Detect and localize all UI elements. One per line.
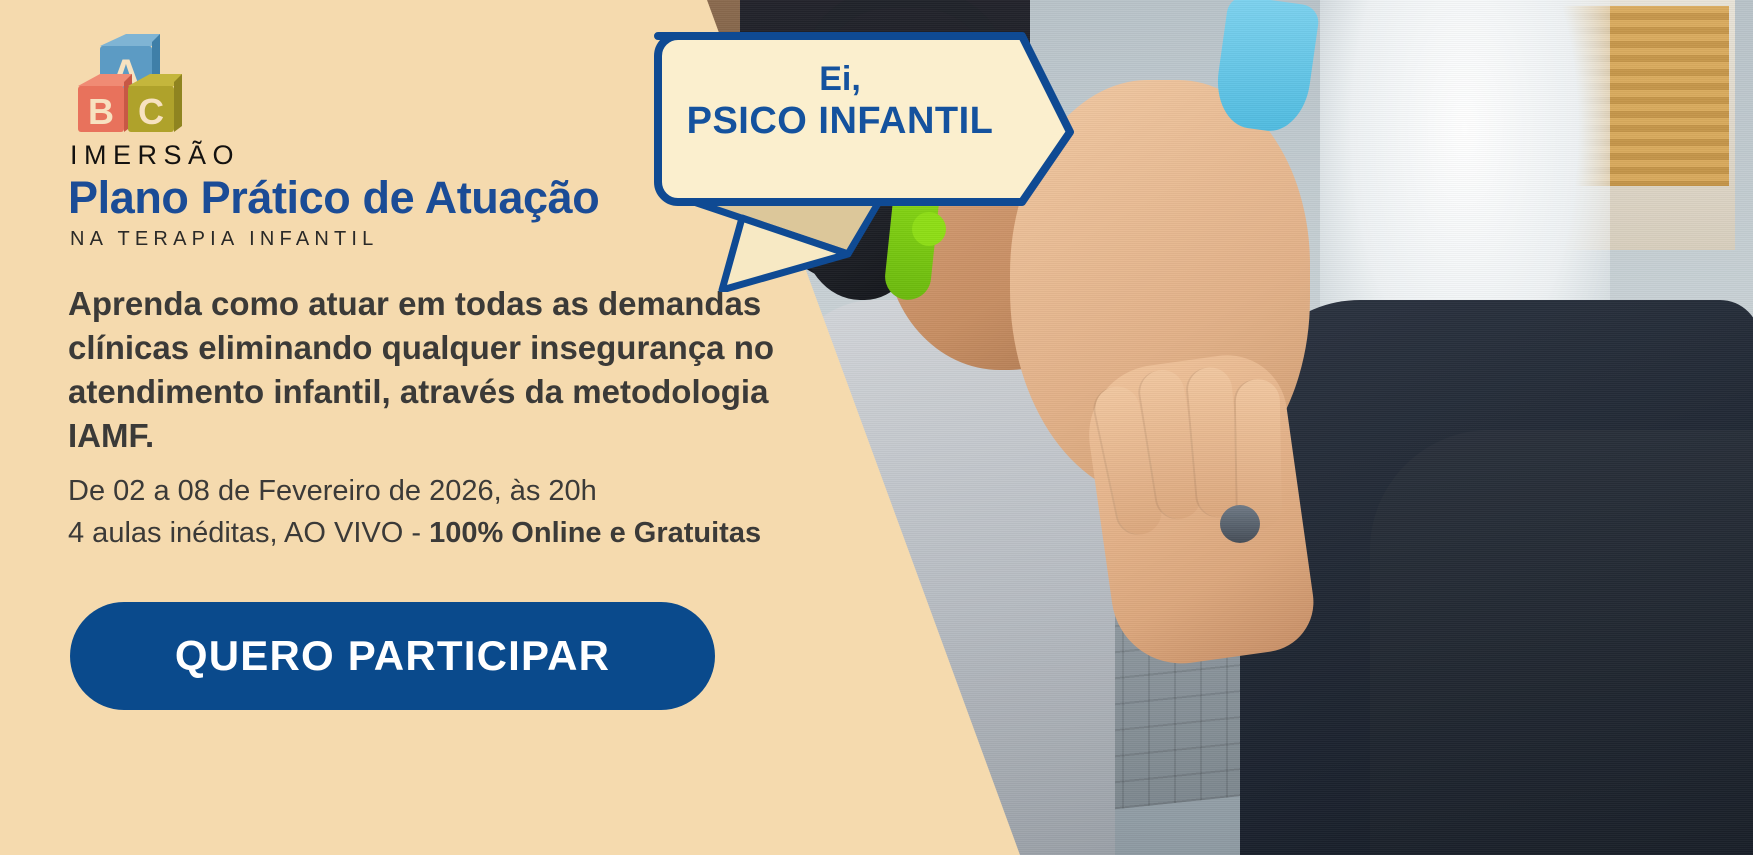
cta-label: QUERO PARTICIPAR bbox=[175, 632, 610, 680]
page-title: Plano Prático de Atuação bbox=[68, 172, 599, 224]
subkicker-terapia: NA TERAPIA INFANTIL bbox=[70, 228, 379, 251]
promo-banner: A B C IMERSÃO Plano Prático de Atuação N… bbox=[0, 0, 1753, 855]
event-details: De 02 a 08 de Fevereiro de 2026, às 20h … bbox=[68, 470, 928, 554]
svg-text:B: B bbox=[88, 91, 114, 132]
block-b-icon: B bbox=[78, 74, 132, 132]
event-format-highlight: 100% Online e Gratuitas bbox=[429, 517, 761, 549]
abc-blocks-logo: A B C bbox=[70, 28, 190, 140]
bubble-body bbox=[658, 36, 1070, 202]
block-c-icon: C bbox=[128, 74, 182, 132]
lede-paragraph: Aprenda como atuar em todas as demandas … bbox=[68, 282, 828, 458]
photo-girl-shirt bbox=[1370, 430, 1753, 855]
quero-participar-button[interactable]: QUERO PARTICIPAR bbox=[70, 602, 715, 710]
event-format-line: 4 aulas inéditas, AO VIVO - 100% Online … bbox=[68, 512, 928, 554]
svg-text:C: C bbox=[138, 91, 164, 132]
kicker-imersao: IMERSÃO bbox=[70, 140, 240, 171]
speech-bubble-shape bbox=[630, 22, 1100, 292]
photo-ring bbox=[1220, 505, 1260, 543]
speech-bubble: Ei, PSICO INFANTIL bbox=[630, 22, 1100, 292]
event-date-line: De 02 a 08 de Fevereiro de 2026, às 20h bbox=[68, 470, 928, 512]
event-format-plain: 4 aulas inéditas, AO VIVO - bbox=[68, 517, 429, 549]
